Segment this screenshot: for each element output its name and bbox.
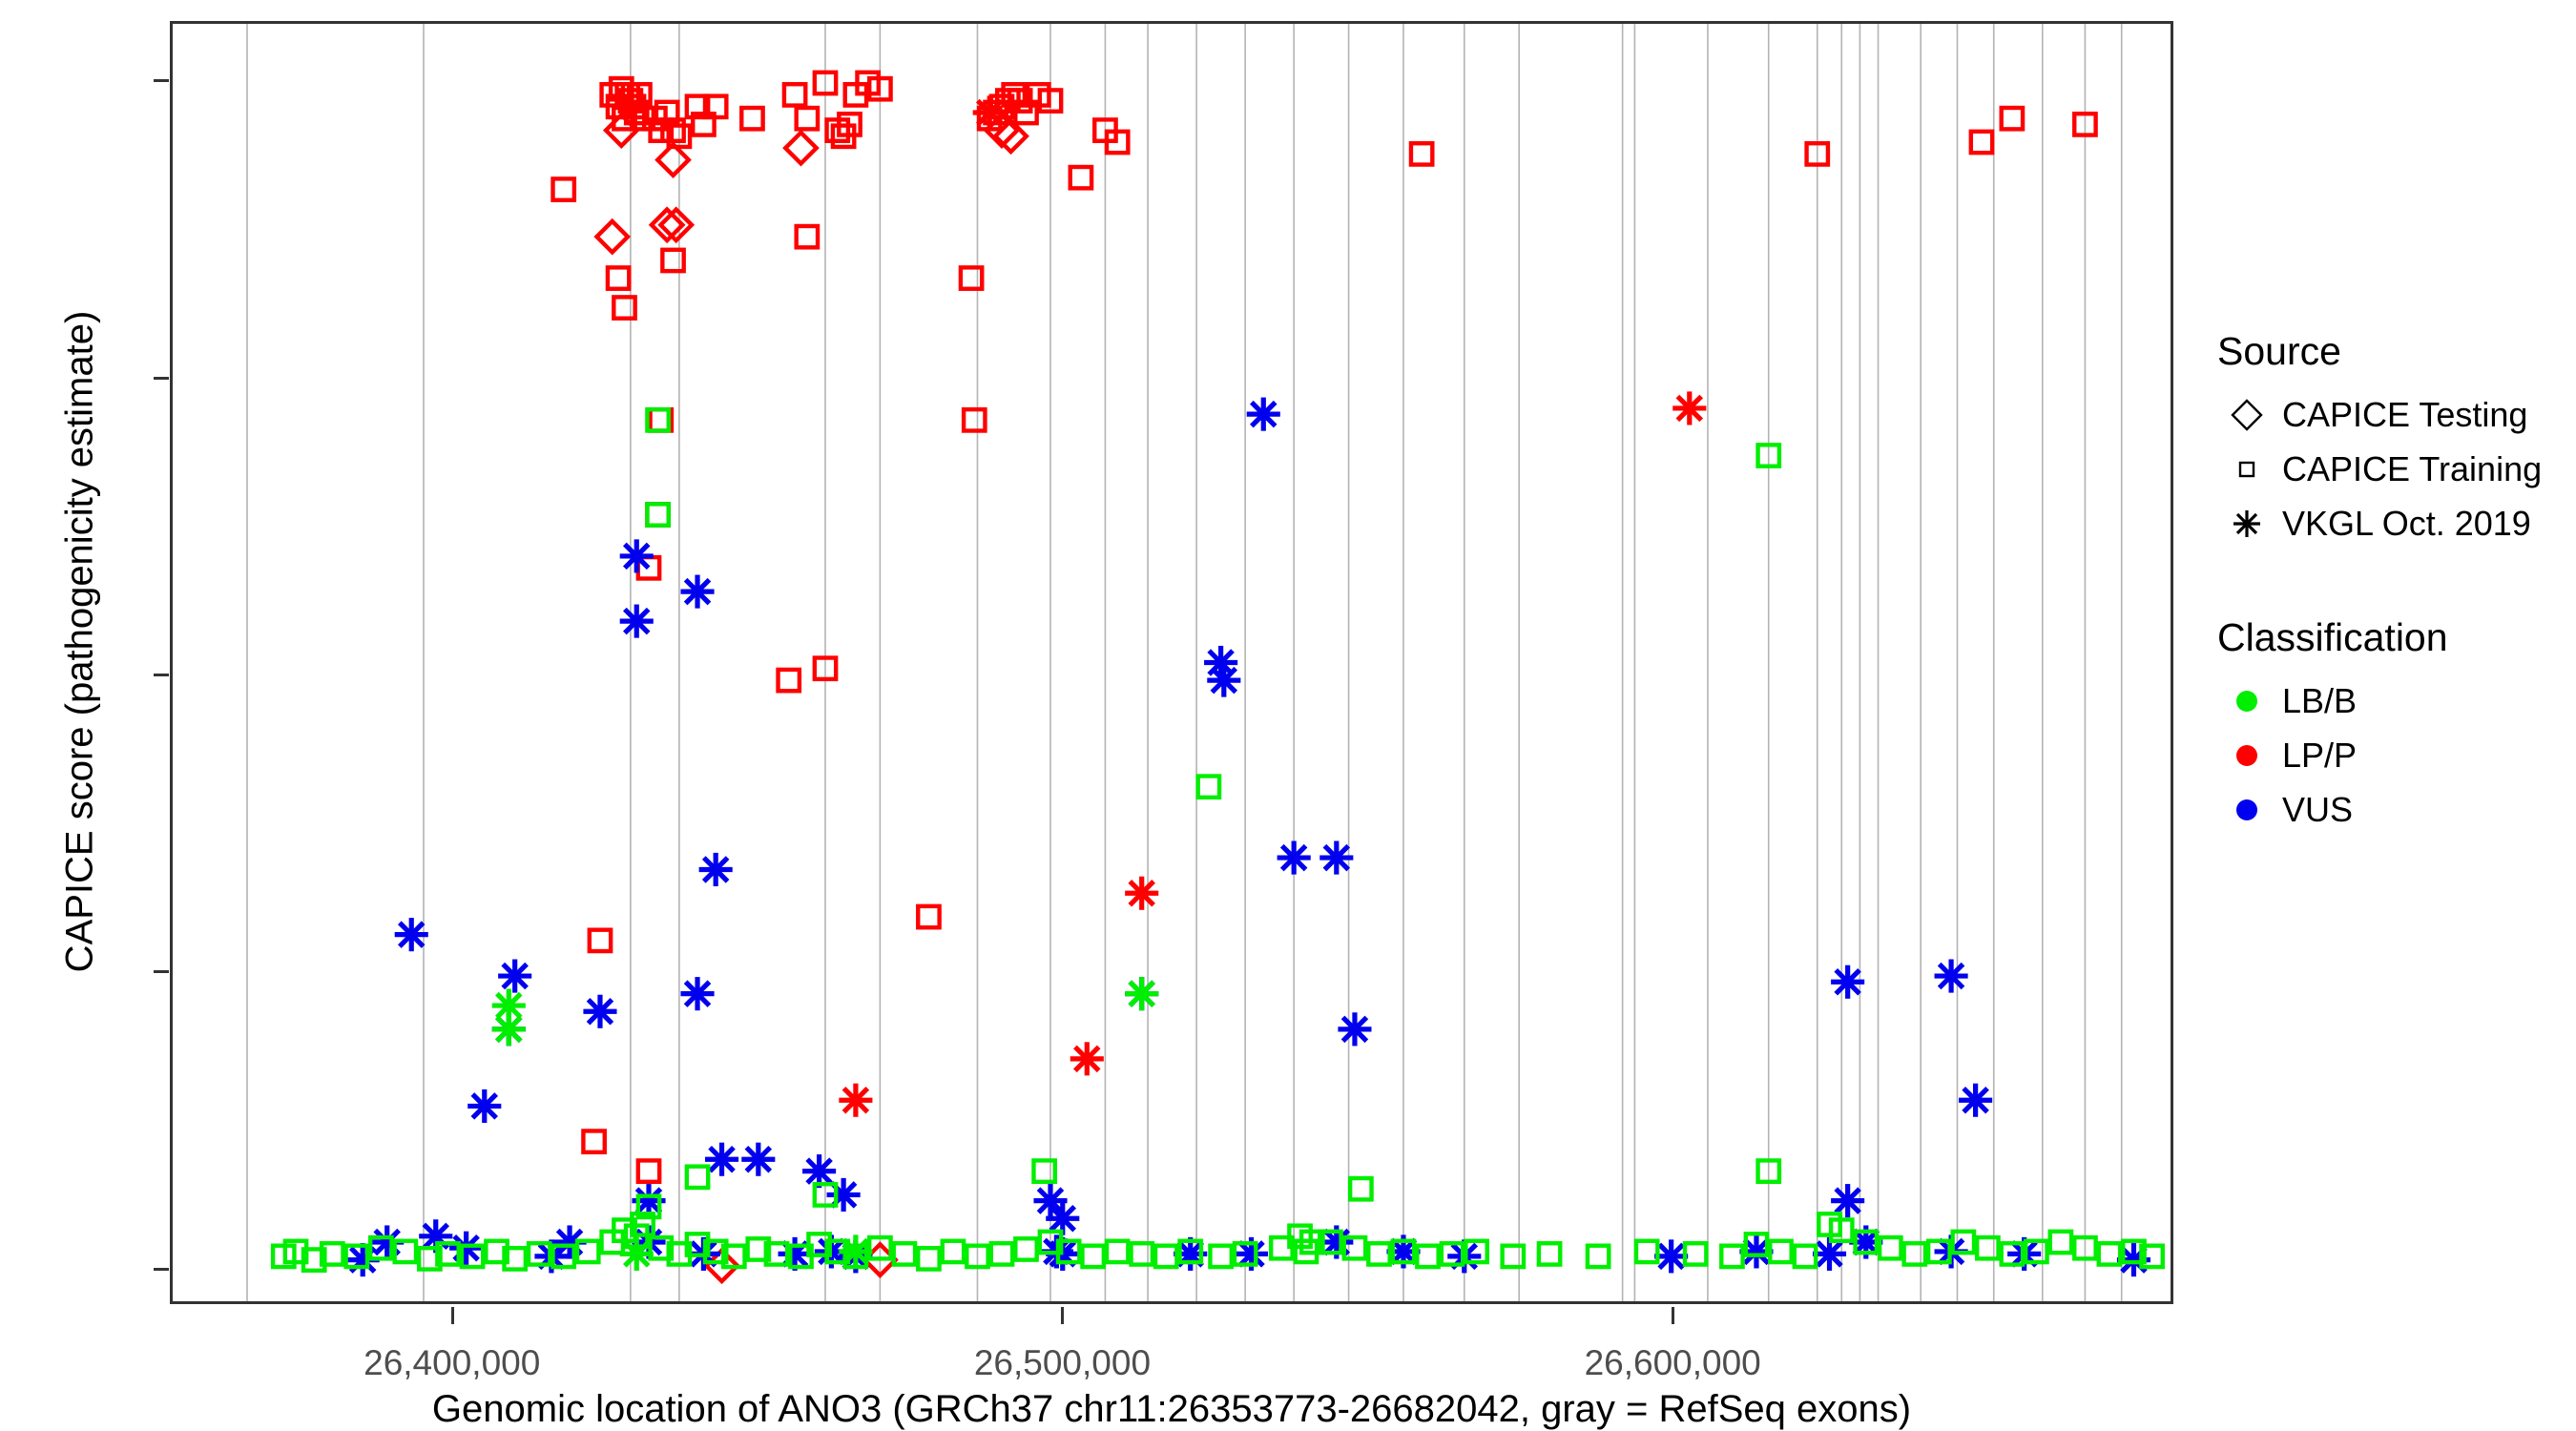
data-point: [973, 95, 1007, 129]
data-point: [1082, 1246, 1103, 1267]
circle-icon-lpp: [2212, 736, 2282, 775]
x-tick-mark: [1061, 1307, 1064, 1324]
data-point: [1971, 132, 1992, 153]
data-point: [1125, 977, 1158, 1010]
x-tick-label: 26,500,000: [974, 1343, 1151, 1383]
data-point: [1539, 1243, 1560, 1264]
data-point: [1588, 1246, 1609, 1267]
data-point: [596, 221, 628, 253]
data-point: [741, 1143, 775, 1176]
data-point: [657, 144, 689, 176]
data-point: [492, 1012, 526, 1046]
data-points: [273, 73, 2163, 1281]
data-point: [467, 1089, 501, 1123]
data-point: [1125, 877, 1158, 910]
data-point: [680, 575, 714, 609]
data-point: [2002, 108, 2023, 129]
y-tick-mark: [154, 377, 169, 380]
data-point: [647, 504, 668, 525]
legend-item-vus[interactable]: VUS: [2212, 782, 2565, 837]
data-point: [583, 995, 616, 1028]
legend-item-lbb[interactable]: LB/B: [2212, 674, 2565, 728]
x-tick-label: 26,400,000: [364, 1343, 540, 1383]
data-point: [1904, 1243, 1925, 1264]
data-point: [1636, 1241, 1657, 1262]
data-point: [699, 853, 733, 886]
scatter-canvas: [173, 24, 2171, 1301]
data-point: [449, 1232, 483, 1265]
data-point: [1198, 777, 1219, 798]
legend: Source CAPICE Testing CAPICE Training: [2212, 329, 2565, 846]
y-tick-mark: [154, 674, 169, 676]
data-point: [1107, 1241, 1128, 1262]
data-point: [797, 226, 818, 247]
legend-group-source: Source CAPICE Testing CAPICE Training: [2212, 329, 2565, 550]
data-point: [590, 930, 611, 951]
data-point: [1417, 1246, 1438, 1267]
data-point: [1721, 1246, 1742, 1267]
data-point: [680, 977, 714, 1010]
data-point: [613, 297, 634, 318]
legend-label-capice-training: CAPICE Training: [2282, 449, 2542, 489]
data-point: [1132, 1243, 1153, 1264]
data-point: [498, 960, 531, 993]
data-point: [620, 605, 654, 638]
data-point: [395, 918, 428, 951]
legend-label-vkgl: VKGL Oct. 2019: [2282, 504, 2531, 544]
data-point: [1350, 1178, 1371, 1199]
legend-item-lpp[interactable]: LP/P: [2212, 728, 2565, 782]
data-point: [2099, 1243, 2120, 1264]
data-point: [1831, 965, 1864, 999]
y-tick-mark: [154, 79, 169, 82]
data-point: [620, 1237, 654, 1271]
data-point: [964, 409, 985, 430]
data-point: [1503, 1246, 1524, 1267]
data-point: [961, 267, 982, 288]
data-point: [1033, 1160, 1054, 1181]
data-point: [1685, 1243, 1706, 1264]
plot-panel: [170, 21, 2173, 1304]
legend-item-vkgl[interactable]: VKGL Oct. 2019: [2212, 496, 2565, 550]
data-point: [608, 267, 629, 288]
data-point: [785, 133, 817, 164]
data-point: [647, 504, 668, 525]
data-point: [638, 1160, 659, 1181]
data-point: [583, 1130, 604, 1151]
y-tick-mark: [154, 1268, 169, 1271]
data-point: [839, 1234, 872, 1268]
circle-icon-vus: [2212, 791, 2282, 829]
asterisk-icon: [2212, 505, 2282, 543]
data-point: [1070, 167, 1091, 188]
data-point: [1207, 664, 1240, 697]
y-tick-mark: [154, 970, 169, 973]
data-point: [1672, 391, 1706, 425]
legend-title-source: Source: [2217, 329, 2565, 374]
x-tick-mark: [1672, 1307, 1674, 1324]
data-point: [553, 178, 574, 199]
data-point: [784, 84, 805, 105]
data-point: [943, 1241, 964, 1262]
data-point: [918, 1248, 939, 1269]
data-point: [991, 1243, 1012, 1264]
x-tick-mark: [451, 1307, 454, 1324]
data-point: [1880, 1237, 1901, 1258]
data-point: [741, 108, 762, 129]
data-point: [1977, 1237, 1998, 1258]
data-point: [687, 1167, 708, 1188]
data-point: [620, 539, 654, 572]
data-point: [1411, 143, 1432, 164]
legend-spacer: [2212, 560, 2565, 615]
y-axis-title: CAPICE score (pathogenicity estimate): [59, 70, 102, 1214]
data-point: [1015, 1238, 1036, 1259]
legend-title-classification: Classification: [2217, 615, 2565, 660]
legend-item-capice-testing[interactable]: CAPICE Testing: [2212, 387, 2565, 442]
diamond-icon: [2212, 396, 2282, 434]
data-point: [662, 250, 683, 271]
legend-item-capice-training[interactable]: CAPICE Training: [2212, 442, 2565, 496]
legend-group-classification: Classification LB/B LP/P VUS: [2212, 615, 2565, 837]
data-point: [1935, 960, 1968, 993]
data-point: [1319, 841, 1353, 875]
data-point: [839, 1084, 872, 1117]
exon-lines: [247, 24, 2122, 1301]
data-point: [1770, 1241, 1791, 1262]
data-point: [1155, 1246, 1176, 1267]
data-point: [1278, 841, 1311, 875]
data-point: [1338, 1012, 1371, 1046]
data-point: [797, 108, 818, 129]
data-point: [1070, 1042, 1104, 1075]
x-tick-label: 26,600,000: [1585, 1343, 1761, 1383]
legend-label-lpp: LP/P: [2282, 736, 2357, 776]
legend-label-capice-testing: CAPICE Testing: [2282, 395, 2527, 435]
data-point: [1247, 398, 1280, 431]
chart-figure: CAPICE score (pathogenicity estimate) 0.…: [0, 0, 2576, 1431]
square-icon: [2212, 450, 2282, 488]
circle-icon-lbb: [2212, 682, 2282, 720]
x-axis-title: Genomic location of ANO3 (GRCh37 chr11:2…: [170, 1388, 2173, 1431]
data-point: [1210, 1246, 1231, 1267]
legend-label-vus: VUS: [2282, 790, 2353, 830]
legend-label-lbb: LB/B: [2282, 681, 2357, 721]
data-point: [1795, 1246, 1816, 1267]
data-point: [2050, 1232, 2071, 1253]
data-point: [1959, 1084, 1992, 1117]
data-point: [779, 670, 800, 691]
data-point: [918, 906, 939, 927]
data-point: [1368, 1243, 1389, 1264]
